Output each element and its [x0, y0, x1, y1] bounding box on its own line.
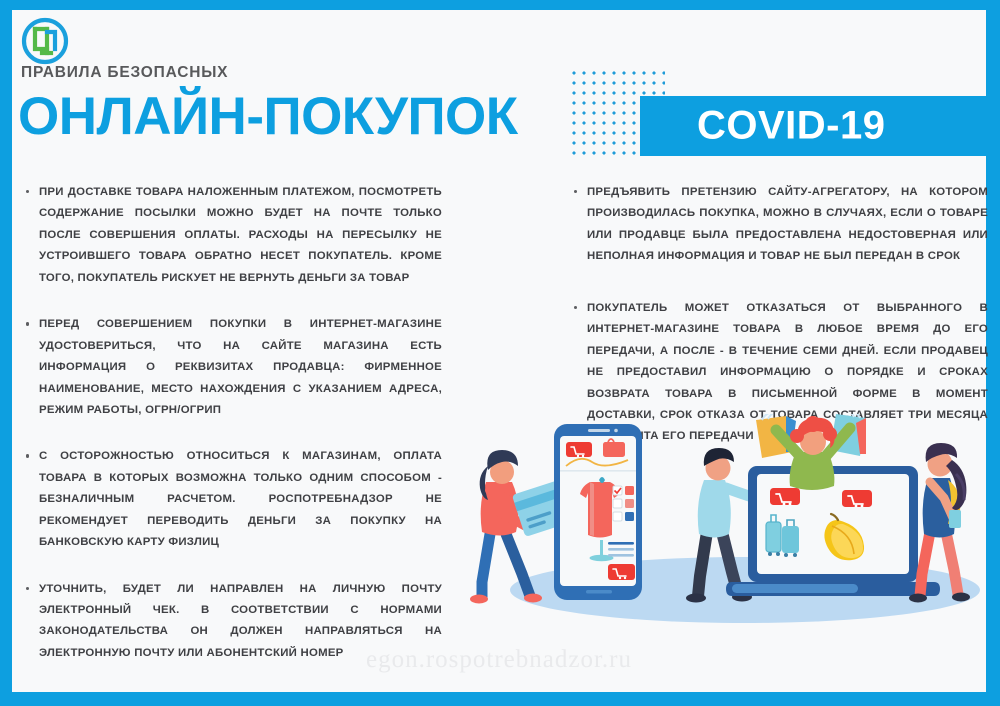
list-item: ПРИ ДОСТАВКЕ ТОВАРА НАЛОЖЕННЫМ ПЛАТЕЖОМ,… — [22, 182, 442, 289]
list-item: ПРЕДЪЯВИТЬ ПРЕТЕНЗИЮ САЙТУ-АГРЕГАТОРУ, Н… — [570, 182, 988, 268]
infographic-poster: ПРАВИЛА БЕЗОПАСНЫХ ОНЛАЙН-ПОКУПОК COVID-… — [0, 0, 1000, 706]
cart-icon — [770, 488, 800, 505]
right-bullet-list: ПРЕДЪЯВИТЬ ПРЕТЕНЗИЮ САЙТУ-АГРЕГАТОРУ, Н… — [570, 182, 988, 448]
cart-icon — [842, 490, 872, 507]
page-title: ОНЛАЙН-ПОКУПОК — [18, 90, 518, 143]
poster-kicker: ПРАВИЛА БЕЗОПАСНЫХ — [21, 64, 228, 82]
rospotrebnadzor-logo-icon — [20, 16, 70, 66]
list-item: ПЕРЕД СОВЕРШЕНИЕМ ПОКУПКИ В ИНТЕРНЕТ-МАГ… — [22, 314, 442, 421]
online-shopping-illustration — [460, 414, 1000, 626]
left-column: ПРИ ДОСТАВКЕ ТОВАРА НАЛОЖЕННЫМ ПЛАТЕЖОМ,… — [22, 182, 442, 689]
smartphone-storefront — [554, 424, 642, 600]
covid-badge-label: COVID-19 — [697, 104, 886, 149]
covid-badge: COVID-19 — [640, 96, 1000, 156]
list-item: УТОЧНИТЬ, БУДЕТ ЛИ НАПРАВЛЕН НА ЛИЧНУЮ П… — [22, 579, 442, 665]
list-item: С ОСТОРОЖНОСТЬЮ ОТНОСИТЬСЯ К МАГАЗИНАМ, … — [22, 446, 442, 553]
left-bullet-list: ПРИ ДОСТАВКЕ ТОВАРА НАЛОЖЕННЫМ ПЛАТЕЖОМ,… — [22, 182, 442, 664]
cart-icon — [608, 564, 635, 580]
phone-item — [949, 510, 961, 528]
poster-sheet: ПРАВИЛА БЕЗОПАСНЫХ ОНЛАЙН-ПОКУПОК COVID-… — [12, 10, 986, 692]
cart-icon — [566, 442, 592, 457]
